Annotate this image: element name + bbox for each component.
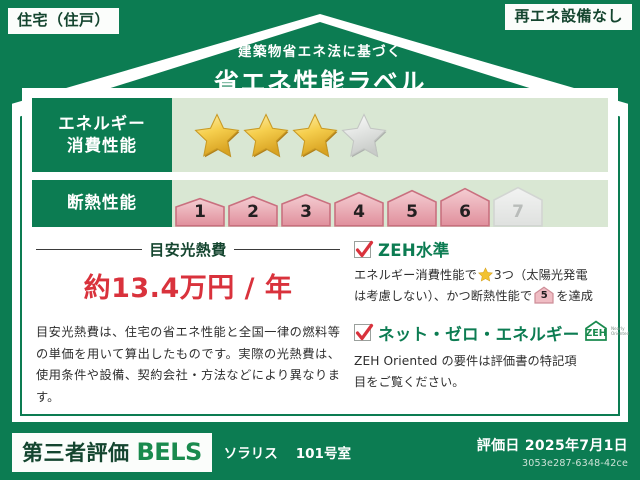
insulation-level-number: 2 (227, 202, 279, 222)
net-zero-desc-part1: ZEH Oriented の要件は評価書の特記項 (354, 354, 577, 368)
star-icon-inline (478, 267, 493, 282)
zeh-column: ZEH水準 エネルギー消費性能で3つ（太陽光発電 は考慮しない）、かつ断熱性能で… (344, 233, 637, 414)
insulation-level-4: 4 (333, 191, 385, 227)
utility-cost-value: 約13.4万円 / 年 (36, 266, 340, 305)
renewable-equipment-tag: 再エネ設備なし (505, 4, 632, 30)
cost-heading-rule-right (234, 249, 340, 250)
cost-heading-rule-left (36, 249, 142, 250)
check-icon (355, 322, 374, 344)
insulation-level-number: 7 (492, 202, 544, 222)
star-icon-filled (243, 112, 289, 158)
zeh-standard-title: ZEH水準 (378, 237, 450, 261)
zeh-standard-header: ZEH水準 (354, 237, 637, 261)
evaluation-id: 3053e287-6348-42ce (477, 458, 628, 469)
zeh-standard-description: エネルギー消費性能で3つ（太陽光発電 は考慮しない）、かつ断熱性能で5を達成 (354, 265, 637, 307)
utility-cost-column: 目安光熱費 約13.4万円 / 年 目安光熱費は、住宅の省エネ性能と全国一律の燃… (32, 233, 344, 414)
insulation-level-7: 7 (492, 186, 544, 227)
energy-performance-label: エネルギー 消費性能 (32, 98, 172, 172)
insulation-level-number: 1 (174, 202, 226, 222)
insulation-level-inline-number: 5 (534, 286, 554, 303)
title-block: 建築物省エネ法に基づく 省エネ性能ラベル (0, 40, 640, 99)
utility-cost-heading: 目安光熱費 (36, 239, 340, 260)
bels-badge: 第三者評価 BELS (12, 433, 212, 472)
insulation-level-6: 6 (439, 187, 491, 227)
zeh-standard-checkbox[interactable] (354, 241, 371, 258)
insulation-level-scale: 1234567 (172, 180, 608, 227)
energy-label-line2: 消費性能 (67, 135, 137, 157)
net-zero-energy-checkbox[interactable] (354, 324, 371, 341)
lower-content: 目安光熱費 約13.4万円 / 年 目安光熱費は、住宅の省エネ性能と全国一律の燃… (32, 233, 608, 414)
star-icon-filled (292, 112, 338, 158)
page-title: 省エネ性能ラベル (0, 63, 640, 99)
energy-performance-label: 住宅（住戸） 再エネ設備なし 建築物省エネ法に基づく 省エネ性能ラベル エネルギ… (0, 0, 640, 480)
energy-label-line1: エネルギー (58, 113, 146, 135)
net-zero-energy-header: ネット・ゼロ・エネルギー ZEH Nearly Oriented (354, 319, 637, 347)
insulation-performance-row: 断熱性能 1234567 (32, 180, 608, 227)
footer-bar: 第三者評価 BELS ソラリス 101号室 評価日 2025年7月1日 3053… (0, 424, 640, 480)
star-rating (172, 98, 608, 172)
utility-cost-note: 目安光熱費は、住宅の省エネ性能と全国一律の燃料等の単価を用いて算出したものです。… (36, 322, 340, 409)
svg-text:ZEH: ZEH (585, 328, 606, 339)
insulation-label-text: 断熱性能 (67, 192, 137, 214)
insulation-level-number: 3 (280, 202, 332, 222)
third-party-eval-label: 第三者評価 (22, 437, 130, 467)
star-icon-empty (341, 112, 387, 158)
building-name: ソラリス (224, 442, 278, 462)
energy-performance-row: エネルギー 消費性能 (32, 98, 608, 172)
check-icon (355, 239, 374, 261)
title-subtitle: 建築物省エネ法に基づく (0, 40, 640, 60)
insulation-level-number: 6 (439, 202, 491, 222)
room-number: 101号室 (296, 442, 351, 462)
evaluation-info: 評価日 2025年7月1日 3053e287-6348-42ce (477, 435, 628, 469)
zeh-standard-block: ZEH水準 エネルギー消費性能で3つ（太陽光発電 は考慮しない）、かつ断熱性能で… (354, 237, 637, 307)
zeh-desc-star-text: 3つ（太陽光発電 (494, 268, 588, 282)
insulation-level-1: 1 (174, 197, 226, 227)
zeh-desc-part2: は考慮しない）、かつ断熱性能で (354, 289, 532, 303)
net-zero-energy-title: ネット・ゼロ・エネルギー (378, 321, 580, 345)
star-icon-filled (194, 112, 240, 158)
insulation-level-3: 3 (280, 193, 332, 227)
zeh-desc-part3: を達成 (556, 289, 593, 303)
insulation-level-inline-icon: 5 (534, 286, 554, 303)
net-zero-energy-description: ZEH Oriented の要件は評価書の特記項 目をご覧ください。 (354, 351, 637, 393)
insulation-level-2: 2 (227, 195, 279, 227)
insulation-level-number: 5 (386, 202, 438, 222)
zeh-desc-part1: エネルギー消費性能で (354, 268, 477, 282)
insulation-level-number: 4 (333, 202, 385, 222)
insulation-level-5: 5 (386, 189, 438, 227)
housing-type-tag: 住宅（住戸） (8, 8, 119, 34)
zeh-logo: ZEH Nearly Oriented (583, 319, 637, 347)
net-zero-desc-part2: 目をご覧ください。 (354, 375, 465, 389)
svg-text:Oriented: Oriented (611, 331, 630, 336)
cost-heading-text: 目安光熱費 (142, 239, 234, 260)
bels-wordmark: BELS (137, 438, 202, 466)
evaluation-date: 評価日 2025年7月1日 (477, 435, 628, 455)
label-body: エネルギー 消費性能 断熱性能 1234567 目安光熱費 (22, 88, 618, 414)
insulation-performance-label: 断熱性能 (32, 180, 172, 227)
net-zero-energy-block: ネット・ゼロ・エネルギー ZEH Nearly Oriented ZEH Ori… (354, 319, 637, 393)
